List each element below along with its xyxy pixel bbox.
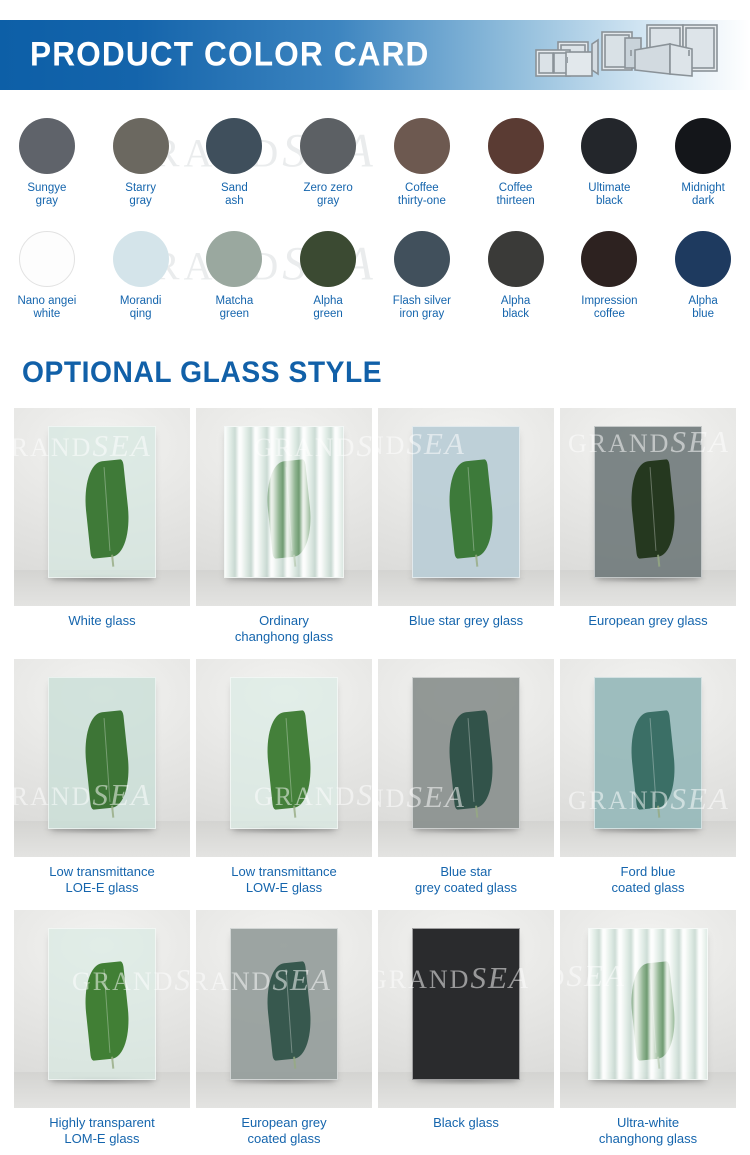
color-swatch[interactable]: Alpha green — [281, 231, 375, 321]
leaf-stem — [657, 555, 660, 567]
leaf-specimen — [81, 961, 133, 1061]
fluted-glass-ribs — [225, 427, 343, 577]
color-swatch-label: Alpha blue — [688, 295, 717, 321]
color-swatch[interactable]: Sand ash — [188, 118, 282, 208]
color-swatch-row-1: Sungye grayStarry graySand ashZero zero … — [0, 118, 750, 208]
color-swatch[interactable]: Sungye gray — [0, 118, 94, 208]
glass-style-grid: GRANDSEAWhite glassGRANDSEAOrdinary chan… — [14, 408, 736, 1155]
glass-pane — [412, 426, 520, 578]
color-swatch-label: Nano angei white — [17, 295, 76, 321]
glass-pane — [48, 677, 156, 829]
leaf-specimen — [627, 459, 679, 559]
color-swatch-label: Coffee thirty-one — [398, 182, 446, 208]
color-swatch-row-2: Nano angei whiteMorandi qingMatcha green… — [0, 231, 750, 321]
glass-style-item[interactable]: GRANDSEABlue star grey coated glass — [378, 659, 554, 910]
color-swatch-dot — [206, 231, 262, 287]
glass-style-item[interactable]: GRANDSEAEuropean grey coated glass — [196, 910, 372, 1155]
leaf-vein — [104, 718, 111, 802]
glass-style-caption: European grey coated glass — [196, 1115, 372, 1155]
color-swatch-dot — [581, 231, 637, 287]
color-swatch[interactable]: Matcha green — [188, 231, 282, 321]
leaf-vein — [286, 969, 293, 1053]
color-swatch-dot — [394, 231, 450, 287]
glass-style-caption: Highly transparent LOM-E glass — [14, 1115, 190, 1155]
glass-sample-photo: GRANDSEA — [14, 659, 190, 857]
glass-style-item[interactable]: GRANDSEAEuropean grey glass — [560, 408, 736, 659]
glass-sample-photo: GRANDSEA — [560, 408, 736, 606]
glass-style-item[interactable]: GRANDSEAUltra-white changhong glass — [560, 910, 736, 1155]
color-swatch-label: Impression coffee — [581, 295, 637, 321]
color-swatch[interactable]: Alpha black — [469, 231, 563, 321]
color-swatch-dot — [675, 118, 731, 174]
color-swatch[interactable]: Nano angei white — [0, 231, 94, 321]
glass-pane — [230, 928, 338, 1080]
glass-sample-photo: GRANDSEA — [560, 910, 736, 1108]
glass-style-caption: Ford blue coated glass — [560, 864, 736, 910]
color-swatch[interactable]: Ultimate black — [563, 118, 657, 208]
color-swatch-label: Alpha black — [501, 295, 530, 321]
color-swatch-label: Midnight dark — [681, 182, 724, 208]
glass-pane — [594, 426, 702, 578]
color-swatch-section: GRANDSEA GRANDSEA Sungye grayStarry gray… — [0, 100, 750, 340]
glass-style-caption: Blue star grey coated glass — [378, 864, 554, 910]
glass-style-item[interactable]: GRANDSEAWhite glass — [14, 408, 190, 659]
glass-pane — [412, 928, 520, 1080]
fluted-glass-ribs — [589, 929, 707, 1079]
color-swatch[interactable]: Midnight dark — [656, 118, 750, 208]
leaf-stem — [475, 555, 478, 567]
glass-style-item[interactable]: GRANDSEAFord blue coated glass — [560, 659, 736, 910]
color-swatch-label: Starry gray — [125, 182, 156, 208]
glass-style-caption: Blue star grey glass — [378, 613, 554, 659]
color-swatch-dot — [113, 231, 169, 287]
glass-sample-photo: GRANDSEA — [14, 408, 190, 606]
leaf-specimen — [263, 710, 315, 810]
color-swatch-dot — [675, 231, 731, 287]
color-swatch[interactable]: Impression coffee — [563, 231, 657, 321]
color-swatch[interactable]: Coffee thirteen — [469, 118, 563, 208]
color-swatch[interactable]: Flash silver iron gray — [375, 231, 469, 321]
leaf-specimen — [445, 459, 497, 559]
glass-sample-photo: GRANDSEA — [196, 408, 372, 606]
glass-pane — [594, 677, 702, 829]
color-swatch[interactable]: Coffee thirty-one — [375, 118, 469, 208]
color-swatch[interactable]: Morandi qing — [94, 231, 188, 321]
glass-style-item[interactable]: GRANDSEABlue star grey glass — [378, 408, 554, 659]
glass-style-caption: Ultra-white changhong glass — [560, 1115, 736, 1155]
leaf-stem — [657, 806, 660, 818]
color-swatch-dot — [19, 118, 75, 174]
leaf-specimen — [81, 459, 133, 559]
color-swatch[interactable]: Alpha blue — [656, 231, 750, 321]
glass-style-item[interactable]: GRANDSEABlack glass — [378, 910, 554, 1155]
color-swatch[interactable]: Zero zero gray — [281, 118, 375, 208]
aluminum-windows-illustration-icon — [520, 20, 740, 90]
color-swatch-label: Coffee thirteen — [496, 182, 534, 208]
product-color-card-page: PRODUCT COLOR CARD — [0, 0, 750, 1155]
glass-pane — [588, 928, 708, 1080]
glass-sample-photo: GRANDSEA — [560, 659, 736, 857]
glass-style-item[interactable]: GRANDSEAHighly transparent LOM-E glass — [14, 910, 190, 1155]
glass-sample-photo: GRANDSEA — [378, 659, 554, 857]
leaf-vein — [468, 718, 475, 802]
glass-style-item[interactable]: GRANDSEALow transmittance LOE-E glass — [14, 659, 190, 910]
color-swatch-label: Sungye gray — [27, 182, 66, 208]
leaf-vein — [650, 718, 657, 802]
leaf-vein — [286, 718, 293, 802]
color-swatch-dot — [113, 118, 169, 174]
glass-sample-photo: GRANDSEA — [196, 910, 372, 1108]
color-swatch-label: Matcha green — [216, 295, 254, 321]
color-swatch-label: Morandi qing — [120, 295, 162, 321]
glass-sample-photo: GRANDSEA — [196, 659, 372, 857]
color-swatch-dot — [488, 118, 544, 174]
glass-pane — [412, 677, 520, 829]
color-swatch-dot — [300, 231, 356, 287]
glass-style-caption: European grey glass — [560, 613, 736, 659]
color-swatch-dot — [488, 231, 544, 287]
color-swatch-dot — [19, 231, 75, 287]
color-swatch-dot — [300, 118, 356, 174]
glass-pane — [48, 928, 156, 1080]
glass-style-caption: White glass — [14, 613, 190, 659]
color-swatch-label: Sand ash — [221, 182, 248, 208]
color-swatch-label: Flash silver iron gray — [393, 295, 451, 321]
leaf-vein — [104, 467, 111, 551]
header-banner: PRODUCT COLOR CARD — [0, 20, 750, 90]
leaf-specimen — [445, 710, 497, 810]
glass-pane — [230, 677, 338, 829]
leaf-specimen — [81, 710, 133, 810]
color-swatch-label: Ultimate black — [588, 182, 630, 208]
color-swatch-dot — [206, 118, 262, 174]
leaf-vein — [650, 467, 657, 551]
glass-pane — [48, 426, 156, 578]
leaf-stem — [293, 1057, 296, 1069]
glass-style-caption: Ordinary changhong glass — [196, 613, 372, 659]
glass-style-caption: Low transmittance LOW-E glass — [196, 864, 372, 910]
color-swatch-dot — [581, 118, 637, 174]
glass-pane — [224, 426, 344, 578]
color-swatch-label: Zero zero gray — [304, 182, 353, 208]
leaf-stem — [475, 806, 478, 818]
glass-style-caption: Black glass — [378, 1115, 554, 1155]
leaf-stem — [293, 806, 296, 818]
glass-style-item[interactable]: GRANDSEALow transmittance LOW-E glass — [196, 659, 372, 910]
leaf-vein — [104, 969, 111, 1053]
color-swatch-label: Alpha green — [313, 295, 342, 321]
leaf-specimen — [627, 710, 679, 810]
leaf-stem — [111, 806, 114, 818]
page-title: PRODUCT COLOR CARD — [30, 36, 430, 75]
color-swatch-dot — [394, 118, 450, 174]
section-heading-optional-glass-style: OPTIONAL GLASS STYLE — [22, 356, 382, 390]
glass-style-item[interactable]: GRANDSEAOrdinary changhong glass — [196, 408, 372, 659]
leaf-specimen — [263, 961, 315, 1061]
glass-style-caption: Low transmittance LOE-E glass — [14, 864, 190, 910]
leaf-vein — [468, 467, 475, 551]
glass-sample-photo: GRANDSEA — [14, 910, 190, 1108]
leaf-stem — [111, 555, 114, 567]
leaf-stem — [111, 1057, 114, 1069]
glass-sample-photo: GRANDSEA — [378, 910, 554, 1108]
color-swatch[interactable]: Starry gray — [94, 118, 188, 208]
glass-sample-photo: GRANDSEA — [378, 408, 554, 606]
